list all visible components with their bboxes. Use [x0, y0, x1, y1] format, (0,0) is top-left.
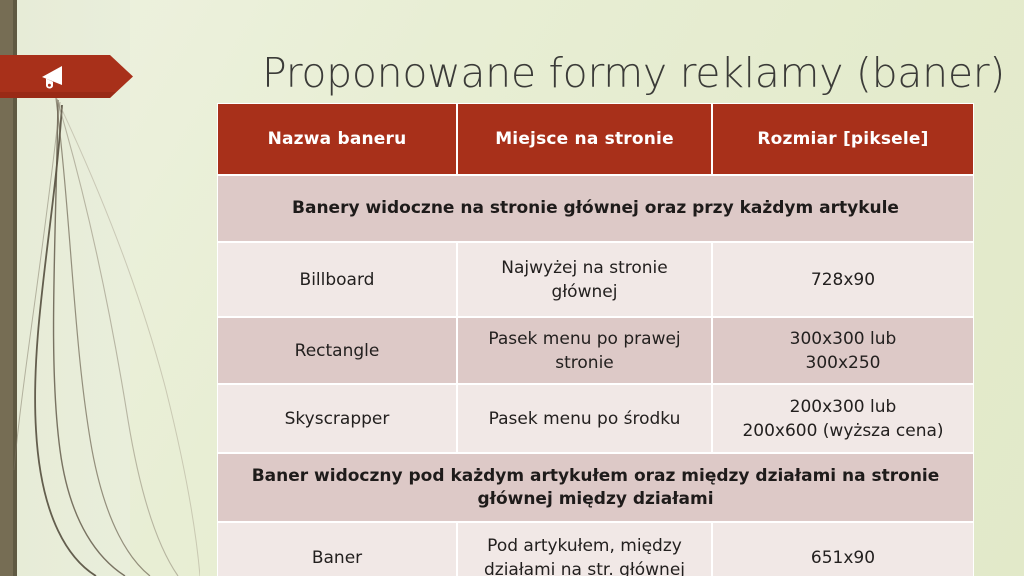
cell-place: Pasek menu po środku: [457, 384, 712, 453]
cell-place: Pod artykułem, między działami na str. g…: [457, 522, 712, 576]
cell-size: 651x90: [712, 522, 974, 576]
section-heading-2-line2: głównej między działami: [228, 488, 963, 511]
table-row: Rectangle Pasek menu po prawej stronie 3…: [217, 317, 974, 384]
cell-size: 200x300 lub 200x600 (wyższa cena): [712, 384, 974, 453]
section-heading-row-2: Baner widoczny pod każdym artykułem oraz…: [217, 453, 974, 522]
cell-place-line1: Pod artykułem, między: [468, 534, 701, 558]
cell-place-line1: Pasek menu po prawej: [468, 327, 701, 351]
left-panel-background: [17, 0, 130, 576]
page-title: Proponowane formy reklamy (baner): [262, 48, 1002, 98]
cell-name: Baner: [217, 522, 457, 576]
cell-size-line2: 200x600 (wyższa cena): [723, 419, 963, 443]
cell-place-line2: stronie: [468, 351, 701, 375]
cell-size-line1: 200x300 lub: [723, 395, 963, 419]
column-header-size: Rozmiar [piksele]: [712, 103, 974, 175]
table-row: Baner Pod artykułem, między działami na …: [217, 522, 974, 576]
cell-name: Billboard: [217, 242, 457, 317]
cell-place-line2: działami na str. głównej: [468, 558, 701, 576]
cell-place-line2: głównej: [468, 280, 701, 304]
table-header-row: Nazwa baneru Miejsce na stronie Rozmiar …: [217, 103, 974, 175]
cell-size-line1: 651x90: [723, 546, 963, 570]
section-heading-row-1: Banery widoczne na stronie głównej oraz …: [217, 175, 974, 242]
cell-size-line2: 300x250: [723, 351, 963, 375]
section-heading-2-line1: Baner widoczny pod każdym artykułem oraz…: [228, 465, 963, 488]
table-row: Billboard Najwyżej na stronie głównej 72…: [217, 242, 974, 317]
cell-place: Pasek menu po prawej stronie: [457, 317, 712, 384]
section-heading-2: Baner widoczny pod każdym artykułem oraz…: [217, 453, 974, 522]
cell-size: 300x300 lub 300x250: [712, 317, 974, 384]
section-heading-1: Banery widoczne na stronie głównej oraz …: [217, 175, 974, 242]
cell-size-line1: 728x90: [723, 268, 963, 292]
cell-place-line1: Pasek menu po środku: [468, 407, 701, 431]
slide-canvas: Proponowane formy reklamy (baner) Nazwa …: [0, 0, 1024, 576]
column-header-name: Nazwa baneru: [217, 103, 457, 175]
column-header-place: Miejsce na stronie: [457, 103, 712, 175]
cell-name: Rectangle: [217, 317, 457, 384]
left-accent-stripe: [0, 0, 13, 576]
banner-forms-table: Nazwa baneru Miejsce na stronie Rozmiar …: [217, 103, 974, 576]
cell-size-line1: 300x300 lub: [723, 327, 963, 351]
cell-name: Skyscrapper: [217, 384, 457, 453]
cell-size: 728x90: [712, 242, 974, 317]
cell-place: Najwyżej na stronie głównej: [457, 242, 712, 317]
cell-place-line1: Najwyżej na stronie: [468, 256, 701, 280]
table-row: Skyscrapper Pasek menu po środku 200x300…: [217, 384, 974, 453]
